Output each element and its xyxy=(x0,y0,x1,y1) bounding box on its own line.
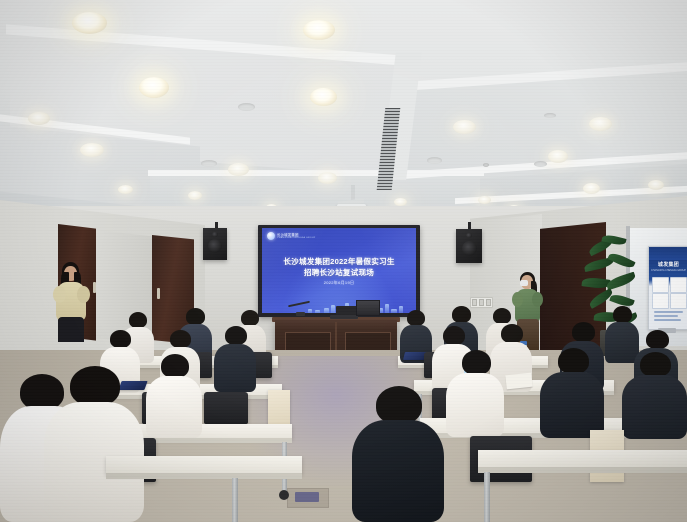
banner-card xyxy=(670,293,687,309)
banner-header-bar xyxy=(649,247,687,260)
attendee xyxy=(214,326,256,390)
ceiling-sprinkler xyxy=(483,163,489,167)
attendee xyxy=(146,354,202,434)
chair xyxy=(204,392,248,424)
banner-card xyxy=(652,293,669,309)
ceiling-vent xyxy=(534,161,547,167)
ceiling-light xyxy=(80,143,104,157)
console-monitor xyxy=(356,300,380,316)
ceiling-vent xyxy=(427,157,442,164)
attendee xyxy=(540,348,604,434)
face-mask xyxy=(520,280,528,286)
paper-sheet xyxy=(505,373,532,390)
ceiling-light xyxy=(478,196,491,204)
banner-card xyxy=(670,277,687,293)
attendee-foreground xyxy=(352,386,444,522)
slide-date: 2022年6月19日 xyxy=(262,280,416,286)
skirt xyxy=(58,317,84,342)
table-caster xyxy=(279,490,289,500)
speaker-tweeter xyxy=(466,233,472,238)
banner-line xyxy=(654,315,678,317)
ceiling-light xyxy=(28,112,50,125)
ceiling-light xyxy=(394,198,407,206)
table-leg xyxy=(484,472,490,522)
paper-bag xyxy=(268,390,290,428)
banner-line xyxy=(654,311,683,313)
ceiling-light xyxy=(318,172,337,184)
banner-card xyxy=(652,277,669,293)
ceiling-light xyxy=(303,20,335,40)
door-handle[interactable] xyxy=(93,282,96,293)
slide-logo: 长沙城发集团 CHANGSHA CHENGFA GROUP xyxy=(267,232,316,240)
table-leg xyxy=(232,478,238,522)
ceiling-vent xyxy=(238,103,255,111)
table xyxy=(106,456,302,474)
wall-switch[interactable] xyxy=(472,299,478,306)
av-console-box xyxy=(336,306,358,315)
wall-switch[interactable] xyxy=(479,299,485,306)
speaker-tweeter xyxy=(212,232,218,237)
attendee-foreground xyxy=(44,366,144,522)
wall-speaker-left xyxy=(203,228,227,260)
information-banner: 城发集团 CHANGSHA CHENGFA GROUP xyxy=(648,246,687,330)
table-edge xyxy=(106,473,302,479)
slide-logo-subtext: CHANGSHA CHENGFA GROUP xyxy=(277,237,316,240)
ceiling xyxy=(0,0,687,232)
speaker-cone xyxy=(462,241,477,256)
table-edge xyxy=(478,467,687,473)
speaker-cone xyxy=(208,239,222,253)
projection-screen: 长沙城发集团 CHANGSHA CHENGFA GROUP 长沙城发集团2022… xyxy=(262,228,416,313)
ceiling-light xyxy=(228,163,249,176)
slide-title-line-2: 招聘长沙站复试现场 xyxy=(262,267,416,278)
ceiling-light xyxy=(583,183,600,194)
door-handle[interactable] xyxy=(157,288,160,299)
ceiling-vent xyxy=(201,160,217,167)
wall-speaker-right xyxy=(456,229,482,263)
photo-scene: 长沙城发集团 CHANGSHA CHENGFA GROUP 长沙城发集团2022… xyxy=(0,0,687,522)
ceiling-light xyxy=(589,117,612,131)
banner-line xyxy=(654,319,681,321)
ceiling-light xyxy=(139,77,169,98)
banner-subline: CHANGSHA CHENGFA GROUP xyxy=(649,269,687,272)
slide-title-line-1: 长沙城发集团2022年暑假实习生 xyxy=(262,256,416,267)
table xyxy=(478,450,687,468)
ceiling-light xyxy=(453,120,476,134)
standing-staff-left xyxy=(52,262,90,342)
ceiling-vent xyxy=(544,113,556,118)
ceiling-light xyxy=(118,185,133,194)
console-keyboard xyxy=(330,315,358,319)
ceiling-light xyxy=(188,191,202,200)
ceiling-light xyxy=(648,180,664,190)
company-logo-icon xyxy=(267,232,275,240)
ceiling-light xyxy=(310,88,337,106)
slide-title: 长沙城发集团2022年暑假实习生 招聘长沙站复试现场 xyxy=(262,256,416,278)
ceiling-light xyxy=(548,150,568,163)
attendee xyxy=(622,352,687,436)
wall-switch[interactable] xyxy=(486,299,492,306)
microphone-base xyxy=(296,312,305,316)
ceiling-light xyxy=(72,12,107,34)
banner-headline: 城发集团 xyxy=(649,261,687,268)
floor-outlet-lid xyxy=(295,492,319,502)
attendee xyxy=(446,350,504,434)
